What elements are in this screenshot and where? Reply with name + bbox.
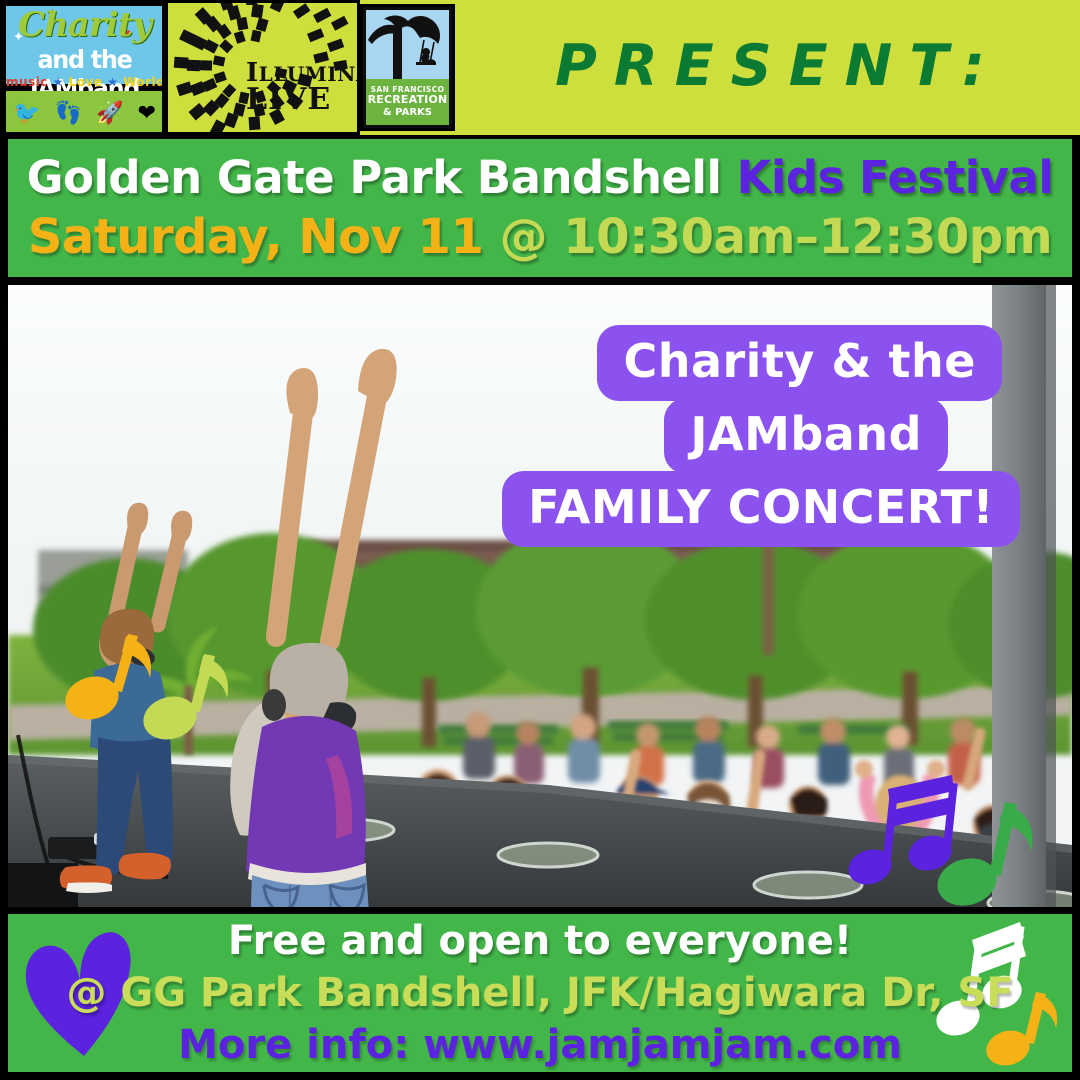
tree-swing-icon [366, 10, 455, 86]
event-date: Saturday, Nov 11 [28, 209, 483, 265]
footer-info-band: Free and open to everyone! @ GG Park Ban… [8, 914, 1072, 1072]
jamband-logo-script: Charity [3, 5, 165, 45]
footer-line-address: @ GG Park Bandshell, JFK/Hagiwara Dr, SF [66, 973, 1013, 1013]
footer-line-website[interactable]: More info: www.jamjamjam.com [178, 1025, 902, 1065]
sf-logo-line2: RECREATION [368, 94, 448, 106]
callout-line-3: FAMILY CONCERT! [502, 471, 1020, 547]
tagline-star-icon-2: ★ [107, 75, 118, 89]
jamband-logo-doodle-strip: 🐦 👣 🚀 ❤ [6, 91, 163, 135]
illuminate-live-wordmark: ILLUMINATE LIVE [246, 61, 360, 114]
callout-line-2: JAMband [664, 398, 948, 474]
event-title-band: Golden Gate Park Bandshell Kids Festival… [8, 139, 1072, 277]
bird-icon: 🐦 [13, 102, 40, 124]
illuminate-live-logo: ILLUMINATE LIVE [165, 0, 360, 135]
live-word: LIVE [246, 86, 360, 115]
heart-icon: ❤ [137, 102, 155, 124]
jamband-logo-tagline: music ★ Love ★ World Peace [6, 75, 163, 89]
present-label: PRESENT: [455, 0, 1080, 135]
footer-line-free: Free and open to everyone! [228, 921, 852, 961]
event-datetime: Saturday, Nov 11 @ 10:30am–12:30pm [28, 213, 1052, 261]
sf-logo-line3: & PARKS [383, 107, 432, 118]
sf-logo-wordmark: SAN FRANCISCO RECREATION & PARKS [366, 79, 449, 125]
event-title-name: Kids Festival [737, 151, 1054, 204]
callout-line-1: Charity & the [597, 325, 1002, 401]
event-poster: ✦ ♪ ❤ Charity and the JAMband music ★ Lo… [0, 0, 1080, 1080]
tagline-word-music: music [6, 75, 48, 89]
tagline-word-worldpeace: World Peace [123, 75, 165, 89]
charity-jamband-logo: ✦ ♪ ❤ Charity and the JAMband music ★ Lo… [0, 0, 165, 135]
footer-text: Free and open to everyone! @ GG Park Ban… [8, 914, 1072, 1072]
sponsor-logo-bar: ✦ ♪ ❤ Charity and the JAMband music ★ Lo… [0, 0, 1080, 135]
tagline-word-love: Love [69, 75, 103, 89]
rocket-icon: 🚀 [96, 102, 123, 124]
sf-rec-parks-logo: SAN FRANCISCO RECREATION & PARKS [360, 4, 455, 131]
event-time: @ 10:30am–12:30pm [500, 209, 1053, 265]
concert-callout: Charity & the JAMband FAMILY CONCERT! [500, 325, 1020, 547]
footprint-icon: 👣 [55, 102, 82, 124]
event-title-venue: Golden Gate Park Bandshell [27, 151, 722, 204]
event-title: Golden Gate Park Bandshell Kids Festival [27, 155, 1054, 200]
tagline-star-icon: ★ [53, 75, 64, 89]
